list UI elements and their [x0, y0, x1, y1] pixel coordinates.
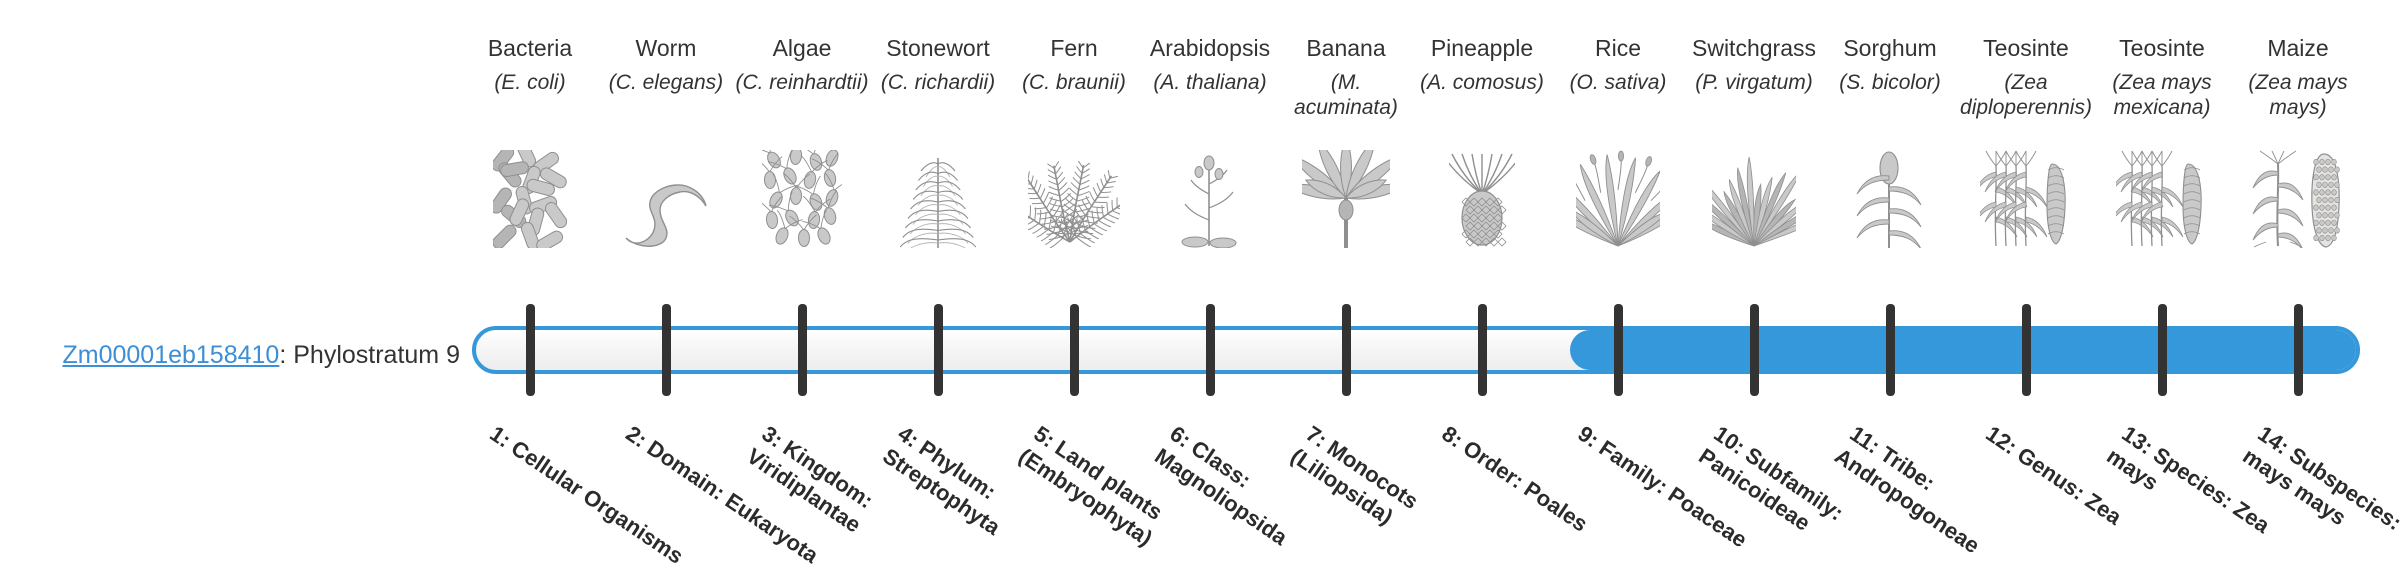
species-latin-name: (C. richardii) — [870, 70, 1006, 122]
timeline-tick[interactable] — [798, 304, 807, 396]
timeline-tick[interactable] — [526, 304, 535, 396]
species-common-name: Switchgrass — [1686, 34, 1822, 64]
bacteria-icon — [462, 152, 598, 248]
timeline-tick[interactable] — [1206, 304, 1215, 396]
species-common-name: Teosinte — [1958, 34, 2094, 64]
timeline-progress-fill — [1570, 330, 2360, 370]
timeline-tick[interactable] — [1750, 304, 1759, 396]
species-column: Switchgrass(P. virgatum) — [1686, 34, 1822, 122]
species-latin-name: (Zea mays mays) — [2230, 70, 2366, 122]
species-column: Fern(C. braunii) — [1006, 34, 1142, 122]
species-latin-name: (A. thaliana) — [1142, 70, 1278, 122]
worm-icon — [598, 152, 734, 248]
species-column: Teosinte(Zea diploperennis) — [1958, 34, 2094, 122]
fern-icon — [1006, 152, 1142, 248]
species-latin-name: (M. acuminata) — [1278, 70, 1414, 122]
gene-phylostratum-label: Zm00001eb158410: Phylostratum 9 — [40, 340, 460, 370]
arabidopsis-icon — [1142, 152, 1278, 248]
species-column: Rice(O. sativa) — [1550, 34, 1686, 122]
stonewort-icon — [870, 152, 1006, 248]
species-common-name: Pineapple — [1414, 34, 1550, 64]
algae-icon — [734, 152, 870, 248]
species-common-name: Rice — [1550, 34, 1686, 64]
timeline-tick[interactable] — [1614, 304, 1623, 396]
species-latin-name: (Zea diploperennis) — [1958, 70, 2094, 122]
timeline-tick[interactable] — [1342, 304, 1351, 396]
species-latin-name: (C. elegans) — [598, 70, 734, 122]
phylostratum-value-text: Phylostratum 9 — [293, 341, 460, 369]
species-common-name: Algae — [734, 34, 870, 64]
teosinte-icon — [1958, 152, 2094, 248]
species-latin-name: (O. sativa) — [1550, 70, 1686, 122]
species-column: Worm(C. elegans) — [598, 34, 734, 122]
species-column: Banana(M. acuminata) — [1278, 34, 1414, 122]
species-column: Algae(C. reinhardtii) — [734, 34, 870, 122]
pineapple-icon — [1414, 152, 1550, 248]
gene-label-separator: : — [279, 341, 293, 369]
species-column: Teosinte(Zea mays mexicana) — [2094, 34, 2230, 122]
timeline-tick[interactable] — [1478, 304, 1487, 396]
species-common-name: Bacteria — [462, 34, 598, 64]
species-common-name: Sorghum — [1822, 34, 1958, 64]
species-common-name: Worm — [598, 34, 734, 64]
timeline-tick[interactable] — [1886, 304, 1895, 396]
species-common-name: Maize — [2230, 34, 2366, 64]
species-column: Pineapple(A. comosus) — [1414, 34, 1550, 122]
species-column: Sorghum(S. bicolor) — [1822, 34, 1958, 122]
species-latin-name: (C. reinhardtii) — [734, 70, 870, 122]
phylostratum-timeline[interactable] — [472, 326, 2360, 374]
species-latin-name: (A. comosus) — [1414, 70, 1550, 122]
sorghum-icon — [1822, 152, 1958, 248]
species-latin-name: (C. braunii) — [1006, 70, 1142, 122]
species-latin-name: (P. virgatum) — [1686, 70, 1822, 122]
species-column: Maize(Zea mays mays) — [2230, 34, 2366, 122]
timeline-tick[interactable] — [2158, 304, 2167, 396]
species-latin-name: (S. bicolor) — [1822, 70, 1958, 122]
timeline-tick[interactable] — [2022, 304, 2031, 396]
teosinte-icon — [2094, 152, 2230, 248]
species-common-name: Fern — [1006, 34, 1142, 64]
species-column: Bacteria(E. coli) — [462, 34, 598, 122]
timeline-tick[interactable] — [662, 304, 671, 396]
phylostratum-figure: Zm00001eb158410: Phylostratum 9 Bacteria… — [0, 0, 2400, 580]
species-common-name: Teosinte — [2094, 34, 2230, 64]
timeline-tick[interactable] — [2294, 304, 2303, 396]
timeline-tick[interactable] — [1070, 304, 1079, 396]
banana-icon — [1278, 152, 1414, 248]
switchgrass-icon — [1686, 152, 1822, 248]
species-column: Arabidopsis(A. thaliana) — [1142, 34, 1278, 122]
rice-icon — [1550, 152, 1686, 248]
gene-id-link[interactable]: Zm00001eb158410 — [62, 341, 279, 369]
species-latin-name: (Zea mays mexicana) — [2094, 70, 2230, 122]
maize-icon — [2230, 152, 2366, 248]
species-common-name: Arabidopsis — [1142, 34, 1278, 64]
species-common-name: Banana — [1278, 34, 1414, 64]
species-common-name: Stonewort — [870, 34, 1006, 64]
species-column: Stonewort(C. richardii) — [870, 34, 1006, 122]
timeline-track — [472, 326, 2360, 374]
species-column-row: Bacteria(E. coli)Worm(C. elegans) Algae(… — [0, 0, 2400, 320]
species-latin-name: (E. coli) — [462, 70, 598, 122]
timeline-tick[interactable] — [934, 304, 943, 396]
